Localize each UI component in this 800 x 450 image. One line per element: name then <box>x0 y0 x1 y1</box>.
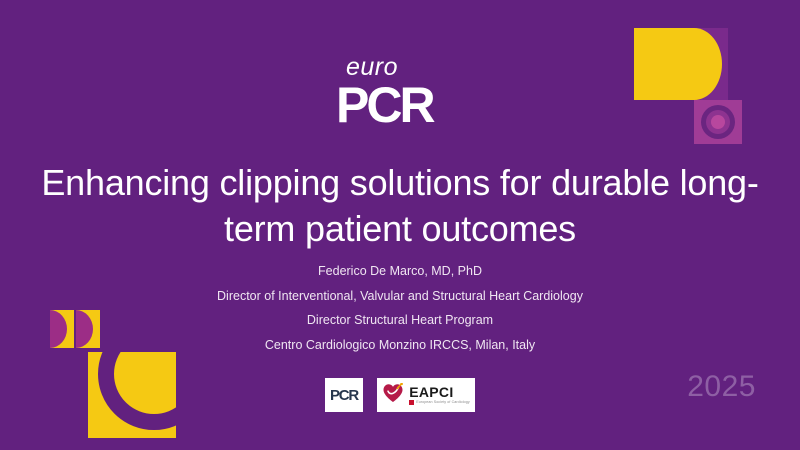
esc-mark-icon <box>409 400 414 405</box>
heart-icon <box>382 383 404 408</box>
author-affiliation: Centro Cardiologico Monzino IRCCS, Milan… <box>100 339 700 352</box>
author-block: Federico De Marco, MD, PhD Director of I… <box>100 265 700 351</box>
europcr-logo-pcr-text: PCR <box>336 82 466 130</box>
europcr-logo: euro PCR <box>336 55 466 130</box>
footer-logo-row: PCR EAPCI European Society of Cardi <box>0 378 800 412</box>
half-circle-tile-1 <box>50 310 74 348</box>
author-role-2: Director Structural Heart Program <box>100 314 700 327</box>
presentation-slide: euro PCR Enhancing clipping solutions fo… <box>0 0 800 450</box>
concentric-circles-shape <box>694 100 742 144</box>
yellow-half-circle-shape <box>666 28 728 100</box>
eapci-logo-card: EAPCI European Society of Cardiology <box>377 378 475 412</box>
ring-inner <box>711 115 725 129</box>
pcr-logo-text: PCR <box>330 387 358 404</box>
eapci-tagline: European Society of Cardiology <box>416 401 470 405</box>
author-role-1: Director of Interventional, Valvular and… <box>100 290 700 303</box>
ring-outer <box>701 105 735 139</box>
author-name: Federico De Marco, MD, PhD <box>100 265 700 278</box>
ring-middle <box>706 110 730 134</box>
eapci-logo-text: EAPCI <box>409 385 470 399</box>
half-circle-tile-2 <box>76 310 100 348</box>
pcr-logo-card: PCR <box>325 378 363 412</box>
slide-title: Enhancing clipping solutions for durable… <box>18 160 782 252</box>
year-label: 2025 <box>687 370 756 404</box>
yellow-bar-shape <box>634 28 666 100</box>
decorative-motif-top-right <box>634 28 742 128</box>
